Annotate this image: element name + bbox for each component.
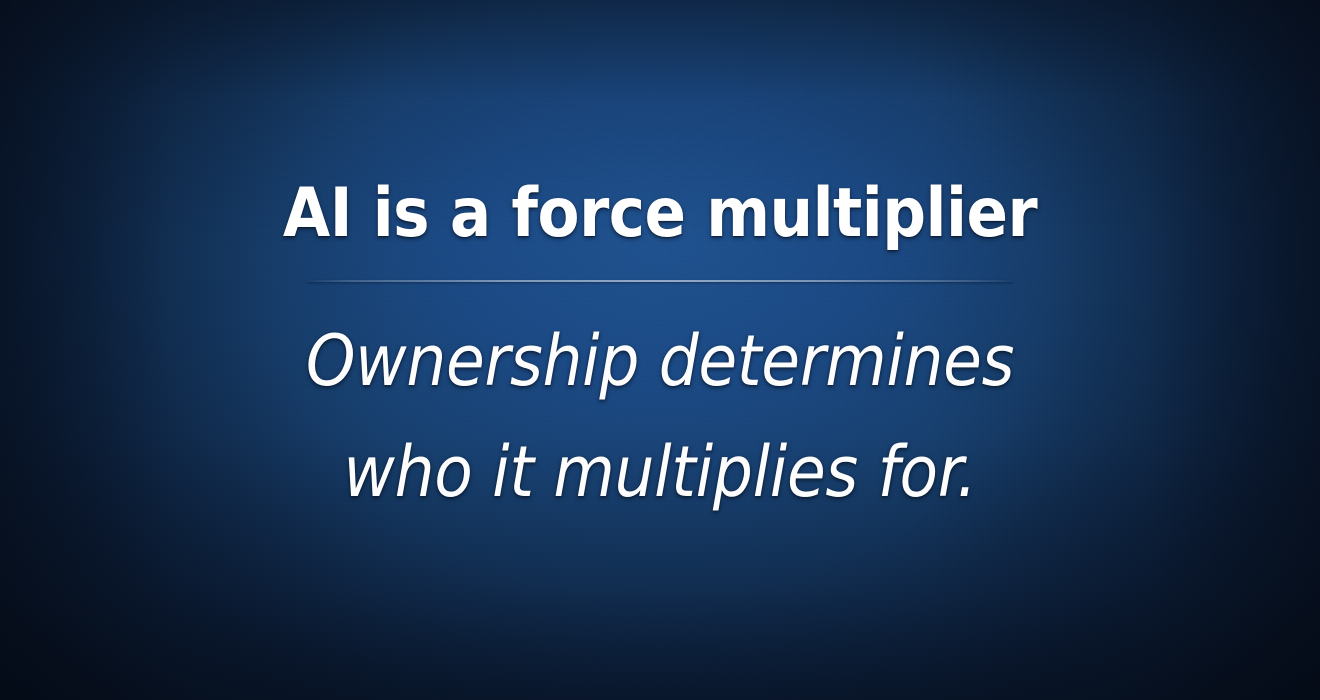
subtitle-line-2: who it multiplies for. xyxy=(343,417,976,528)
subtitle-line-1: Ownership determines xyxy=(306,306,1014,417)
slide-headline: AI is a force multiplier xyxy=(283,178,1037,250)
headline-divider xyxy=(307,280,1013,282)
slide-content: AI is a force multiplier Ownership deter… xyxy=(0,0,1320,700)
slide-subtitle: Ownership determines who it multiplies f… xyxy=(306,306,1014,527)
presentation-slide: AI is a force multiplier Ownership deter… xyxy=(0,0,1320,700)
